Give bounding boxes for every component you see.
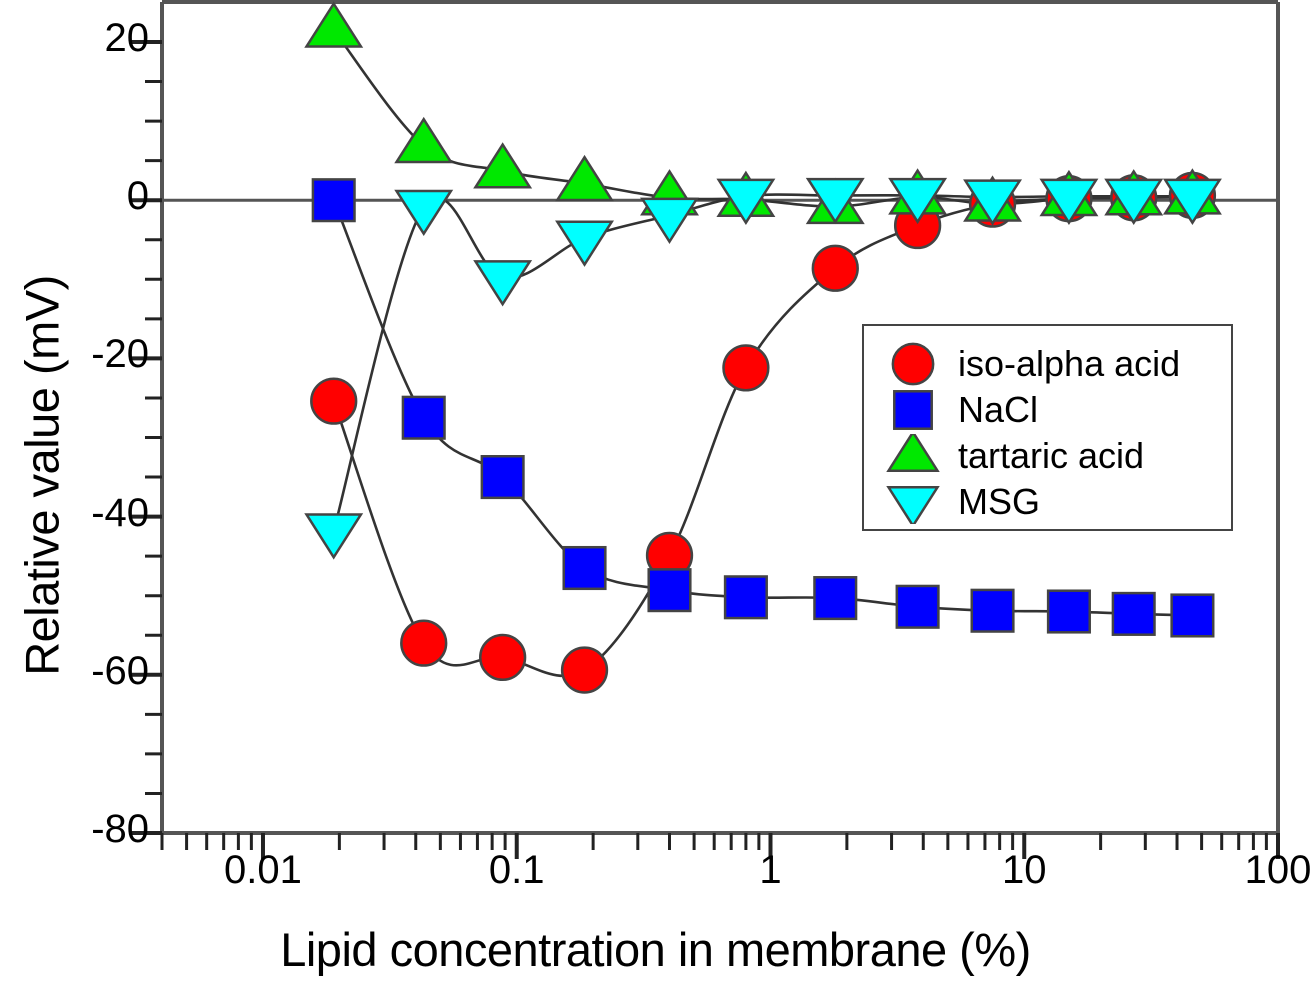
data-point-triangle-down xyxy=(307,514,361,557)
chart-figure: Relative value (mV) Lipid concentration … xyxy=(0,0,1311,1000)
data-point-triangle-down xyxy=(475,261,529,304)
y-tick-label: -40 xyxy=(91,491,149,536)
data-point-square xyxy=(725,576,767,618)
legend-item-msg: MSG xyxy=(882,480,1040,524)
legend-marker-triangle-up-icon xyxy=(882,434,944,478)
data-point-square xyxy=(564,547,606,589)
x-tick-label: 10 xyxy=(934,848,1114,893)
y-tick-label: 0 xyxy=(127,174,149,219)
legend-label: iso-alpha acid xyxy=(958,343,1180,385)
y-axis-label: Relative value (mV) xyxy=(15,176,70,776)
legend-label: NaCl xyxy=(958,389,1038,431)
x-tick-label: 100 xyxy=(1188,848,1311,893)
data-point-triangle-up xyxy=(889,434,938,471)
x-tick-label: 0.1 xyxy=(427,848,607,893)
legend-label: tartaric acid xyxy=(958,435,1144,477)
x-tick-label: 0.01 xyxy=(173,848,353,893)
data-point-circle xyxy=(480,635,525,680)
y-tick-label: 20 xyxy=(105,16,150,61)
data-point-triangle-up xyxy=(475,145,529,188)
data-point-square xyxy=(649,569,691,611)
data-point-triangle-down xyxy=(397,191,451,234)
data-point-circle xyxy=(562,648,607,693)
data-point-square xyxy=(894,391,931,428)
legend-item-iso-alpha-acid: iso-alpha acid xyxy=(882,342,1180,386)
data-point-triangle-down xyxy=(889,487,938,524)
data-point-square xyxy=(1048,591,1090,633)
x-tick-label: 1 xyxy=(680,848,860,893)
legend-item-tartaric-acid: tartaric acid xyxy=(882,434,1144,478)
data-point-square xyxy=(403,397,445,439)
legend-marker-circle-icon xyxy=(882,342,944,386)
data-point-triangle-up xyxy=(307,4,361,47)
y-tick-label: -60 xyxy=(91,649,149,694)
data-point-circle xyxy=(311,379,356,424)
legend: iso-alpha acidNaCltartaric acidMSG xyxy=(862,324,1233,531)
data-point-triangle-down xyxy=(557,222,611,265)
data-point-square xyxy=(1172,595,1214,637)
data-point-circle xyxy=(813,246,858,291)
data-point-square xyxy=(313,179,355,221)
y-tick-label: -80 xyxy=(91,807,149,852)
data-point-square xyxy=(482,456,524,498)
data-point-triangle-up xyxy=(557,157,611,200)
data-point-square xyxy=(1113,593,1155,635)
data-point-circle xyxy=(893,344,933,384)
data-point-circle xyxy=(401,621,446,666)
data-point-circle xyxy=(723,345,768,390)
legend-item-nacl: NaCl xyxy=(882,388,1038,432)
legend-marker-square-icon xyxy=(882,388,944,432)
data-point-square xyxy=(814,577,856,619)
legend-label: MSG xyxy=(958,481,1040,523)
legend-marker-triangle-down-icon xyxy=(882,480,944,524)
x-axis-label: Lipid concentration in membrane (%) xyxy=(0,922,1311,977)
data-point-square xyxy=(897,586,939,628)
data-point-square xyxy=(972,590,1014,632)
y-tick-label: -20 xyxy=(91,332,149,377)
